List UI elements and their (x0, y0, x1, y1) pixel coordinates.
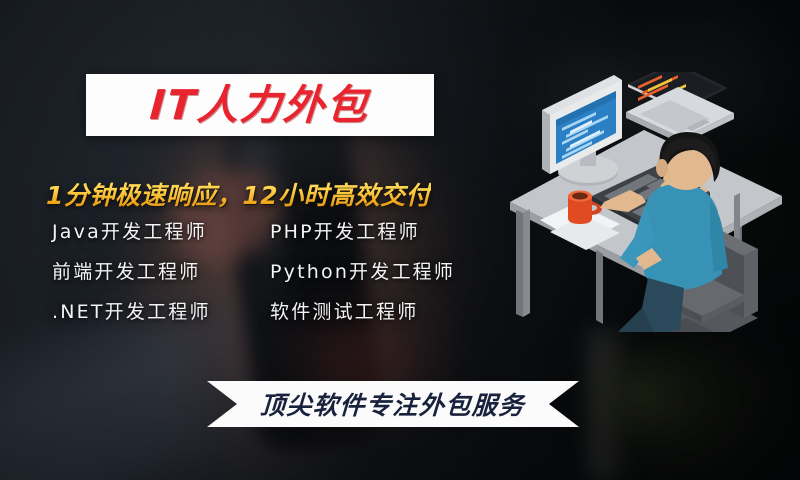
page-title: IT人力外包 (149, 85, 371, 126)
list-item: Python开发工程师 (270, 262, 500, 283)
list-item: 软件测试工程师 (270, 302, 500, 323)
list-item: .NET开发工程师 (52, 302, 262, 323)
ribbon-label: 顶尖软件专注外包服务 (260, 386, 527, 422)
title-banner: IT人力外包 (86, 74, 434, 136)
poster-canvas: IT人力外包 1分钟极速响应，12小时高效交付 Java开发工程师 PHP开发工… (0, 0, 800, 480)
developer-illustration (496, 72, 796, 332)
ribbon-banner: 顶尖软件专注外包服务 (207, 381, 579, 427)
list-item: PHP开发工程师 (270, 222, 500, 243)
service-list: Java开发工程师 PHP开发工程师 前端开发工程师 Python开发工程师 .… (52, 222, 500, 323)
list-item: 前端开发工程师 (52, 262, 262, 283)
subtitle-tagline: 1分钟极速响应，12小时高效交付 (46, 176, 431, 212)
list-item: Java开发工程师 (52, 222, 262, 243)
developer-at-desk-icon (496, 72, 796, 332)
